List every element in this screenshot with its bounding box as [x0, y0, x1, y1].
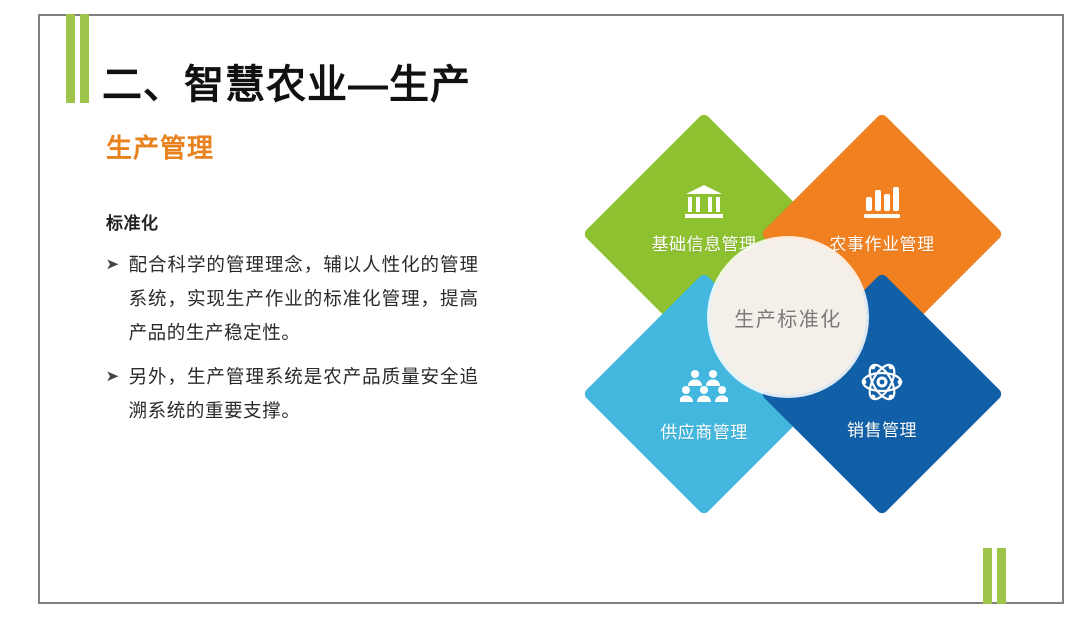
sub-heading: 标准化: [106, 209, 526, 234]
list-item: ➤ 配合科学的管理理念，辅以人性化的管理系统，实现生产作业的标准化管理，提高产品…: [106, 248, 526, 350]
bank-building-icon: [684, 182, 724, 222]
people-group-icon: [680, 366, 728, 406]
diagram-node-label: 农事作业管理: [830, 230, 935, 255]
bar-chart-icon: [864, 182, 900, 222]
list-item: ➤ 另外，生产管理系统是农产品质量安全追溯系统的重要支撑。: [106, 360, 526, 428]
accent-bars-bottom-right: [983, 548, 1006, 604]
diagram-center-label: 生产标准化: [734, 303, 842, 332]
production-standardization-diagram: 基础信息管理 农事作业管理: [588, 142, 1000, 482]
bullet-text: 另外，生产管理系统是农产品质量安全追溯系统的重要支撑。: [129, 360, 479, 428]
page-title: 二、智慧农业—生产: [102, 61, 471, 109]
bullet-text: 配合科学的管理理念，辅以人性化的管理系统，实现生产作业的标准化管理，提高产品的生…: [129, 248, 479, 350]
slide-frame: 二、智慧农业—生产 生产管理 标准化 ➤ 配合科学的管理理念，辅以人性化的管理系…: [38, 14, 1064, 604]
bullet-list: ➤ 配合科学的管理理念，辅以人性化的管理系统，实现生产作业的标准化管理，提高产品…: [106, 248, 526, 428]
accent-bar: [66, 14, 75, 103]
bullet-arrow-icon: ➤: [105, 248, 119, 282]
left-content-column: 生产管理 标准化 ➤ 配合科学的管理理念，辅以人性化的管理系统，实现生产作业的标…: [106, 128, 526, 438]
atom-icon: [861, 362, 903, 402]
accent-bar: [80, 14, 89, 103]
accent-bar: [983, 548, 992, 604]
accent-bar: [997, 548, 1006, 604]
accent-bars-top-left: [66, 14, 89, 103]
diagram-node-label: 销售管理: [847, 416, 917, 441]
diagram-center-node: 生产标准化: [710, 239, 866, 395]
bullet-arrow-icon: ➤: [105, 360, 119, 394]
diagram-node-label: 基础信息管理: [652, 230, 757, 255]
diagram-node-label: 供应商管理: [660, 418, 748, 443]
section-heading: 生产管理: [106, 128, 526, 165]
